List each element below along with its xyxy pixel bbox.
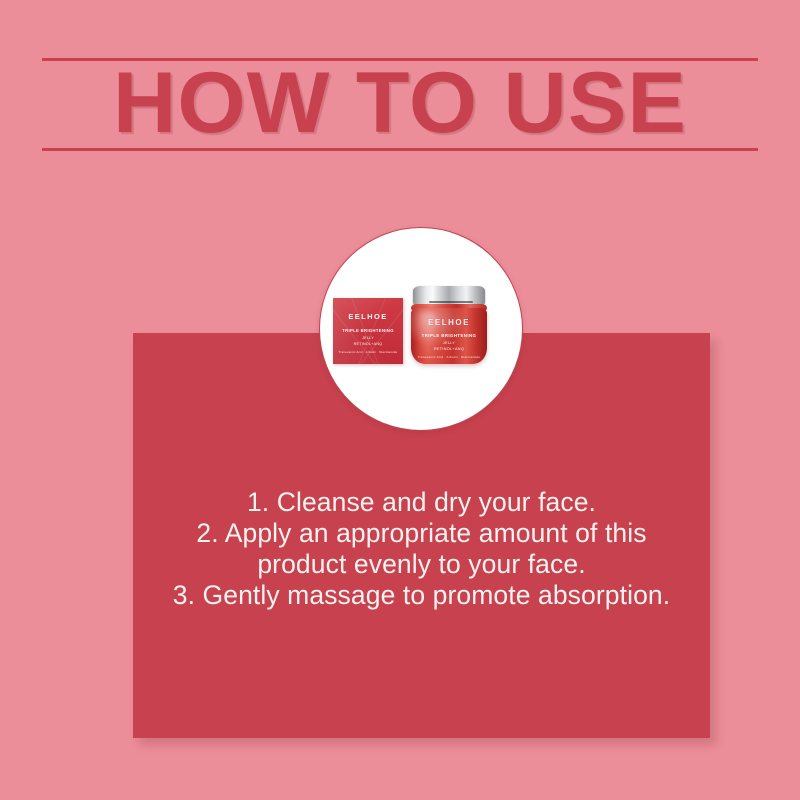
- carton-ingredients: Tranexamic Acid . Arbutin . Niacinamide: [333, 351, 403, 355]
- instruction-step-3: 3. Gently massage to promote absorption.: [133, 580, 710, 611]
- carton-variant: RETINOL+ANQ: [333, 342, 403, 346]
- carton-label: EELHOE TRIPLE BRIGHTENING JELLY RETINOL+…: [333, 312, 403, 354]
- carton-product-sub: JELLY: [333, 336, 403, 340]
- jar-variant: RETINOL+ANQ: [411, 347, 487, 352]
- jar-body: EELHOE TRIPLE BRIGHTENING JELLY RETINOL+…: [411, 308, 487, 364]
- instructions-list: 1. Cleanse and dry your face. 2. Apply a…: [133, 487, 710, 611]
- jar-product-sub: JELLY: [411, 341, 487, 346]
- instruction-step-2: 2. Apply an appropriate amount of this p…: [133, 518, 710, 580]
- jar-lid-seam: [429, 301, 473, 303]
- jar-product-name: TRIPLE BRIGHTENING: [411, 333, 487, 339]
- carton-product-name: TRIPLE BRIGHTENING: [333, 328, 403, 333]
- jar-label: EELHOE TRIPLE BRIGHTENING JELLY RETINOL+…: [411, 318, 487, 360]
- how-to-use-poster: HOW TO USE 1. Cleanse and dry your face.…: [0, 0, 800, 800]
- jar-brand-text: EELHOE: [411, 318, 487, 328]
- header-divider-bottom: [42, 148, 758, 151]
- product-carton: EELHOE TRIPLE BRIGHTENING JELLY RETINOL+…: [333, 298, 403, 364]
- carton-brand-text: EELHOE: [333, 312, 403, 321]
- product-jar: EELHOE TRIPLE BRIGHTENING JELLY RETINOL+…: [410, 286, 488, 368]
- jar-ingredients: Tranexamic Acid . Arbutin . Niacinamide: [411, 356, 487, 360]
- page-title: HOW TO USE: [0, 58, 800, 148]
- product-image: EELHOE TRIPLE BRIGHTENING JELLY RETINOL+…: [320, 228, 522, 430]
- product-image-circle: EELHOE TRIPLE BRIGHTENING JELLY RETINOL+…: [319, 227, 523, 431]
- instruction-step-1: 1. Cleanse and dry your face.: [133, 487, 710, 518]
